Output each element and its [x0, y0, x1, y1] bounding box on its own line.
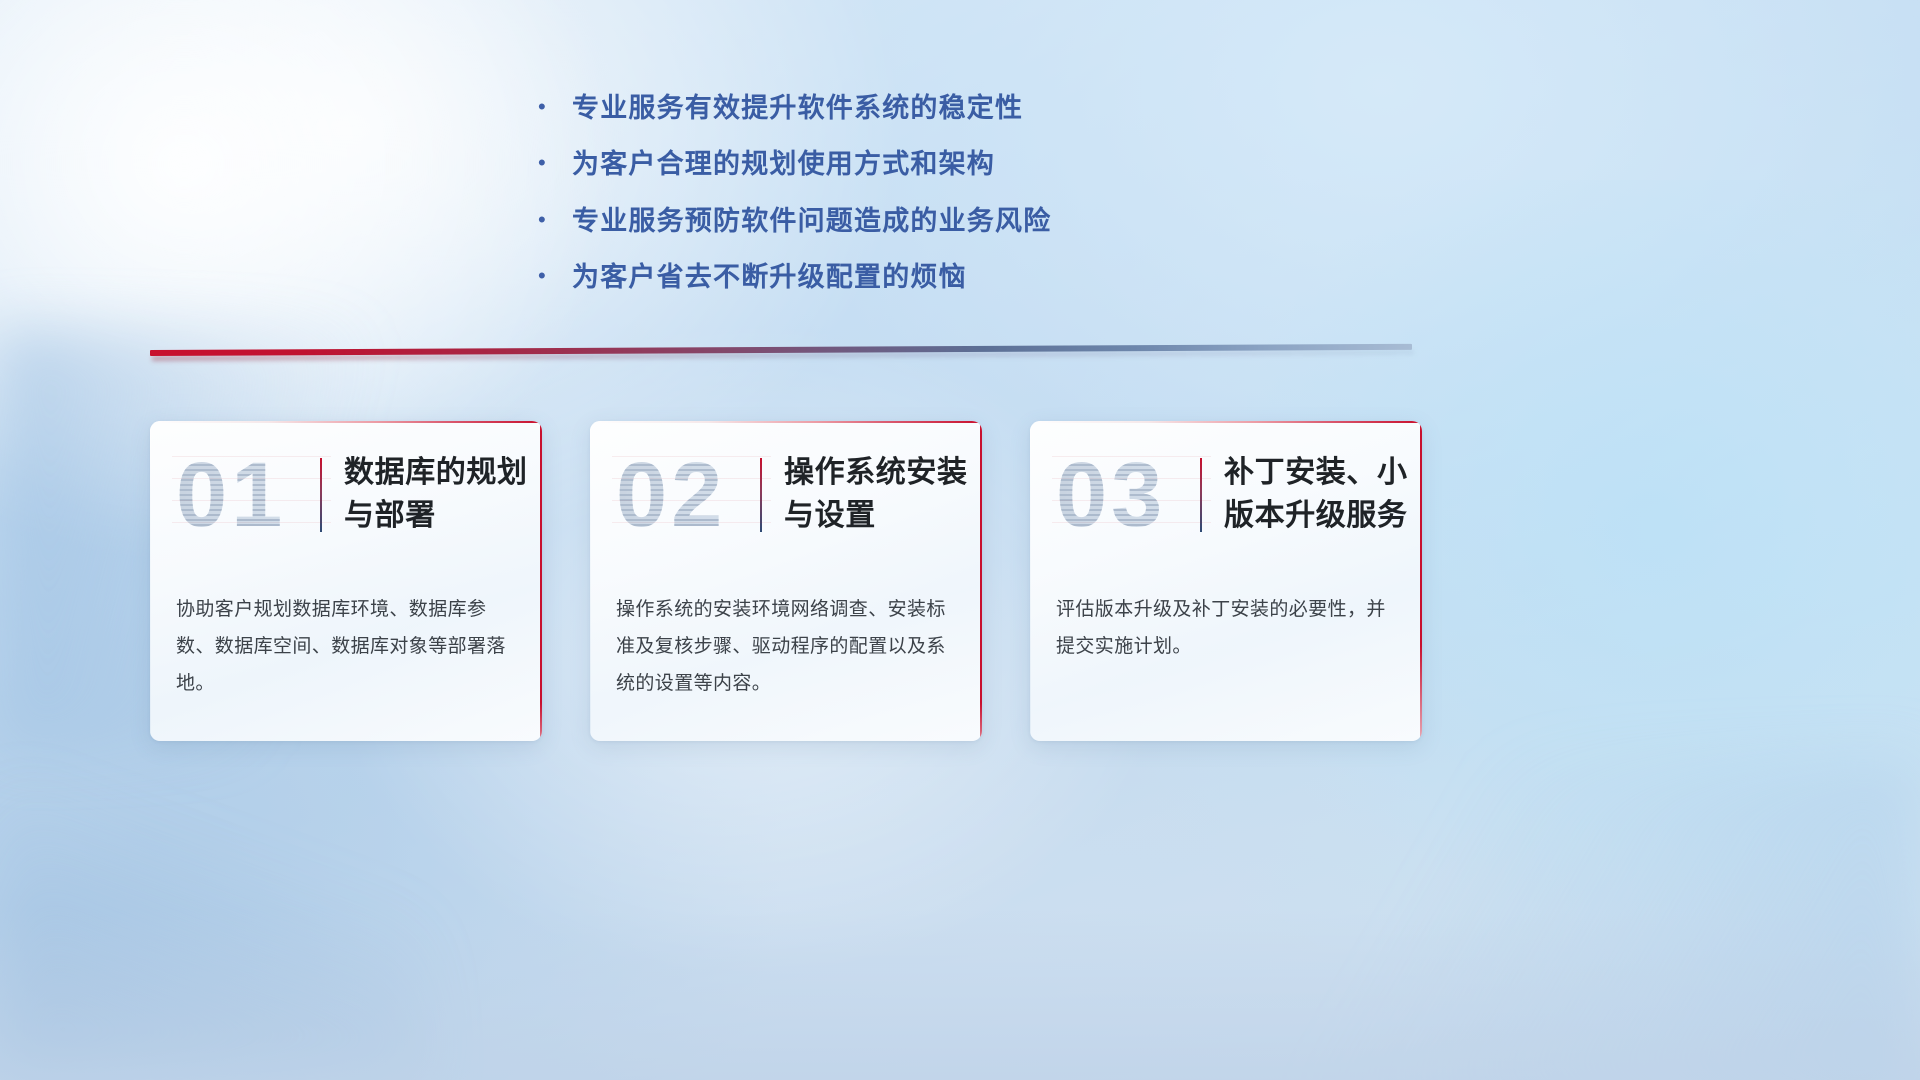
card-number-watermark: 03 [1056, 449, 1198, 541]
card-title-rule [320, 458, 322, 532]
bullet-label: 为客户合理的规划使用方式和架构 [572, 148, 995, 180]
bullet-point-icon: • [538, 152, 572, 174]
service-card-03[interactable]: 03 补丁安装、小版本升级服务 评估版本升级及补丁安装的必要性，并提交实施计划。 [1030, 421, 1422, 741]
card-header: 03 补丁安装、小版本升级服务 [1030, 421, 1422, 569]
card-description: 评估版本升级及补丁安装的必要性，并提交实施计划。 [1030, 569, 1422, 665]
benefits-bullet-list: • 专业服务有效提升软件系统的稳定性 • 为客户合理的规划使用方式和架构 • 专… [538, 92, 1178, 318]
card-description: 协助客户规划数据库环境、数据库参数、数据库空间、数据库对象等部署落地。 [150, 569, 542, 702]
card-title-rule [760, 458, 762, 532]
bullet-item: • 专业服务预防软件问题造成的业务风险 [538, 205, 1178, 237]
card-number-watermark: 02 [616, 449, 758, 541]
bullet-label: 专业服务有效提升软件系统的稳定性 [572, 92, 1023, 124]
bullet-item: • 为客户合理的规划使用方式和架构 [538, 148, 1178, 180]
card-title: 补丁安装、小版本升级服务 [1224, 452, 1420, 537]
card-number-watermark: 01 [176, 449, 318, 541]
service-card-list: 01 数据库的规划与部署 协助客户规划数据库环境、数据库参数、数据库空间、数据库… [150, 421, 1422, 741]
section-divider [150, 345, 1412, 369]
bullet-point-icon: • [538, 265, 572, 287]
card-header: 02 操作系统安装与设置 [590, 421, 982, 569]
bullet-point-icon: • [538, 209, 572, 231]
service-card-02[interactable]: 02 操作系统安装与设置 操作系统的安装环境网络调查、安装标准及复核步骤、驱动程… [590, 421, 982, 741]
card-title: 操作系统安装与设置 [784, 452, 980, 537]
bullet-label: 为客户省去不断升级配置的烦恼 [572, 261, 967, 293]
bullet-item: • 专业服务有效提升软件系统的稳定性 [538, 92, 1178, 124]
bullet-label: 专业服务预防软件问题造成的业务风险 [572, 205, 1051, 237]
bullet-item: • 为客户省去不断升级配置的烦恼 [538, 261, 1178, 293]
background-bottom-fade [0, 910, 1920, 1080]
card-title-rule [1200, 458, 1202, 532]
card-title: 数据库的规划与部署 [344, 452, 540, 537]
card-header: 01 数据库的规划与部署 [150, 421, 542, 569]
bullet-point-icon: • [538, 96, 572, 118]
service-card-01[interactable]: 01 数据库的规划与部署 协助客户规划数据库环境、数据库参数、数据库空间、数据库… [150, 421, 542, 741]
card-description: 操作系统的安装环境网络调查、安装标准及复核步骤、驱动程序的配置以及系统的设置等内… [590, 569, 982, 702]
